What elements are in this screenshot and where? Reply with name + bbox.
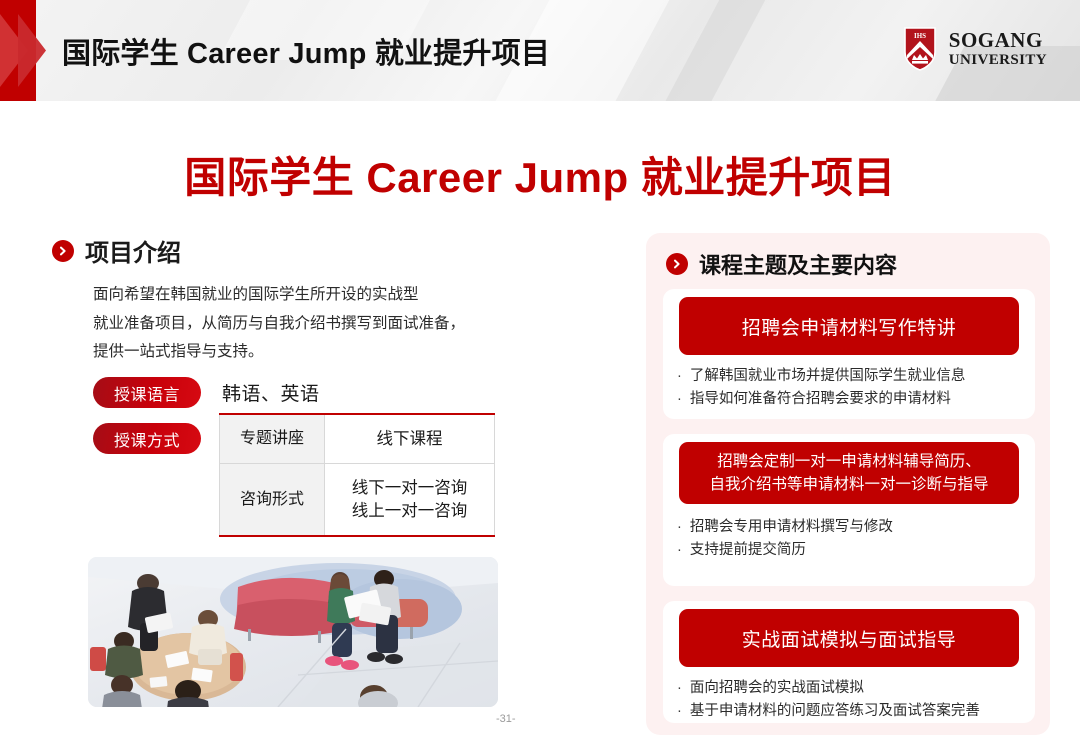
- card-bullet-list: · 面向招聘会的实战面试模拟 · 基于申请材料的问题应答练习及面试答案完善: [677, 677, 1025, 724]
- sogang-crest-icon: IHS: [900, 26, 940, 72]
- teaching-language-row: 授课语言 韩语、英语: [93, 377, 320, 408]
- bullet-dot-icon: ·: [677, 516, 682, 539]
- bullet-dot-icon: ·: [677, 700, 682, 723]
- teaching-language-value: 韩语、英语: [222, 379, 320, 406]
- panel-heading: 课程主题及主要内容: [646, 233, 1050, 280]
- card-bullet-list: · 招聘会专用申请材料撰写与修改 · 支持提前提交简历: [677, 516, 1025, 563]
- list-item: · 指导如何准备符合招聘会要求的申请材料: [677, 388, 1025, 411]
- left-column: 项目介绍 面向希望在韩国就业的国际学生所开设的实战型 就业准备项目，从简历与自我…: [52, 233, 612, 367]
- list-item-label: 基于申请材料的问题应答练习及面试答案完善: [690, 700, 980, 723]
- bullet-dot-icon: ·: [677, 388, 682, 411]
- list-item: · 招聘会专用申请材料撰写与修改: [677, 516, 1025, 539]
- table-row: 咨询形式 线下一对一咨询线上一对一咨询: [220, 464, 495, 536]
- list-item: · 了解韩国就业市场并提供国际学生就业信息: [677, 365, 1025, 388]
- card-heading-banner: 招聘会申请材料写作特讲: [679, 297, 1019, 355]
- chevron-right-icon: [0, 0, 58, 101]
- sogang-university-logo: IHS SOGANG UNIVERSITY: [900, 26, 1047, 72]
- curriculum-panel: 课程主题及主要内容 招聘会申请材料写作特讲 · 了解韩国就业市场并提供国际学生就…: [646, 233, 1050, 735]
- list-item-label: 了解韩国就业市场并提供国际学生就业信息: [690, 365, 966, 388]
- list-item: · 基于申请材料的问题应答练习及面试答案完善: [677, 700, 1025, 723]
- section-heading-intro: 项目介绍: [52, 233, 612, 268]
- curriculum-card: 招聘会定制一对一申请材料辅导简历、自我介绍书等申请材料一对一诊断与指导 · 招聘…: [663, 434, 1035, 586]
- bullet-dot-icon: ·: [677, 365, 682, 388]
- page-title: 国际学生 Career Jump 就业提升项目: [0, 144, 1080, 205]
- section-title: 项目介绍: [85, 233, 181, 268]
- card-heading-banner: 招聘会定制一对一申请材料辅导简历、自我介绍书等申请材料一对一诊断与指导: [679, 442, 1019, 504]
- table-cell-key: 咨询形式: [220, 464, 325, 536]
- label-pill-language: 授课语言: [93, 377, 201, 408]
- label-pill-method: 授课方式: [93, 423, 201, 454]
- photo-illustration: [88, 557, 498, 707]
- bullet-dot-icon: ·: [677, 539, 682, 562]
- logo-name-primary: SOGANG: [949, 30, 1047, 51]
- page-number: -31-: [496, 713, 516, 725]
- panel-title: 课程主题及主要内容: [699, 248, 897, 280]
- list-item: · 面向招聘会的实战面试模拟: [677, 677, 1025, 700]
- bullet-dot-icon: ·: [677, 677, 682, 700]
- table-cell-key: 专题讲座: [220, 414, 325, 464]
- list-item-label: 指导如何准备符合招聘会要求的申请材料: [690, 388, 951, 411]
- card-heading-banner: 实战面试模拟与面试指导: [679, 609, 1019, 667]
- list-item-label: 面向招聘会的实战面试模拟: [690, 677, 864, 700]
- intro-paragraph: 面向希望在韩国就业的国际学生所开设的实战型 就业准备项目，从简历与自我介绍书撰写…: [93, 281, 612, 367]
- header-title: 国际学生 Career Jump 就业提升项目: [62, 30, 550, 72]
- table-cell-value: 线下课程: [325, 414, 495, 464]
- intro-line: 就业准备项目，从简历与自我介绍书撰写到面试准备，: [93, 310, 612, 339]
- intro-line: 面向希望在韩国就业的国际学生所开设的实战型: [93, 281, 612, 310]
- list-item-label: 支持提前提交简历: [690, 539, 806, 562]
- table-cell-value: 线下一对一咨询线上一对一咨询: [325, 464, 495, 536]
- slide-header: 国际学生 Career Jump 就业提升项目 IHS SOGANG UNIVE…: [0, 0, 1080, 101]
- card-bullet-list: · 了解韩国就业市场并提供国际学生就业信息 · 指导如何准备符合招聘会要求的申请…: [677, 365, 1025, 412]
- header-streak-decoration: [639, 0, 786, 101]
- curriculum-card: 招聘会申请材料写作特讲 · 了解韩国就业市场并提供国际学生就业信息 · 指导如何…: [663, 289, 1035, 419]
- curriculum-card: 实战面试模拟与面试指导 · 面向招聘会的实战面试模拟 · 基于申请材料的问题应答…: [663, 601, 1035, 723]
- intro-line: 提供一站式指导与支持。: [93, 338, 612, 367]
- chevron-right-circle-icon: [52, 240, 74, 262]
- students-collaboration-photo: [88, 557, 498, 707]
- list-item-label: 招聘会专用申请材料撰写与修改: [690, 516, 893, 539]
- table-row: 专题讲座 线下课程: [220, 414, 495, 464]
- svg-text:IHS: IHS: [914, 32, 926, 40]
- list-item: · 支持提前提交简历: [677, 539, 1025, 562]
- teaching-method-table: 专题讲座 线下课程 咨询形式 线下一对一咨询线上一对一咨询: [219, 413, 495, 537]
- logo-name-secondary: UNIVERSITY: [949, 53, 1047, 68]
- chevron-right-circle-icon: [666, 253, 688, 275]
- slide: 国际学生 Career Jump 就业提升项目 IHS SOGANG UNIVE…: [0, 0, 1080, 747]
